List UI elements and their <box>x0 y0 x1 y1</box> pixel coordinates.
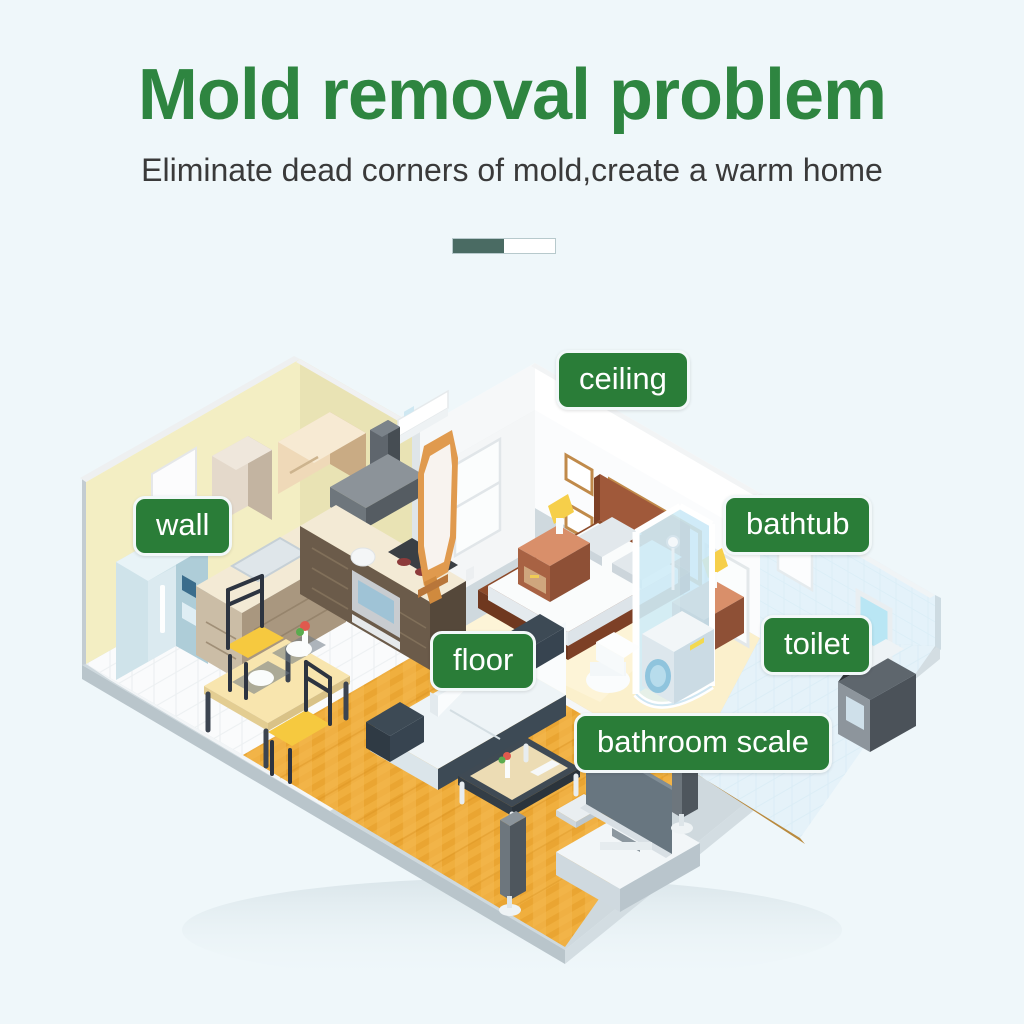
wall-plate <box>351 548 375 566</box>
label-badge-wall[interactable]: wall <box>133 496 232 556</box>
infographic-page: Mold removal problem Eliminate dead corn… <box>0 0 1024 1024</box>
page-subtitle: Eliminate dead corners of mold,create a … <box>0 152 1024 189</box>
label-badge-toilet[interactable]: toilet <box>761 615 872 675</box>
label-badge-bathtub[interactable]: bathtub <box>723 495 872 555</box>
label-badge-floor[interactable]: floor <box>430 631 536 691</box>
label-badge-bathroom-scale[interactable]: bathroom scale <box>574 713 832 773</box>
divider-fill-segment <box>453 239 504 253</box>
divider-empty-segment <box>504 239 555 253</box>
page-title: Mold removal problem <box>0 58 1024 134</box>
section-divider <box>452 238 556 254</box>
label-badge-ceiling[interactable]: ceiling <box>556 350 690 410</box>
